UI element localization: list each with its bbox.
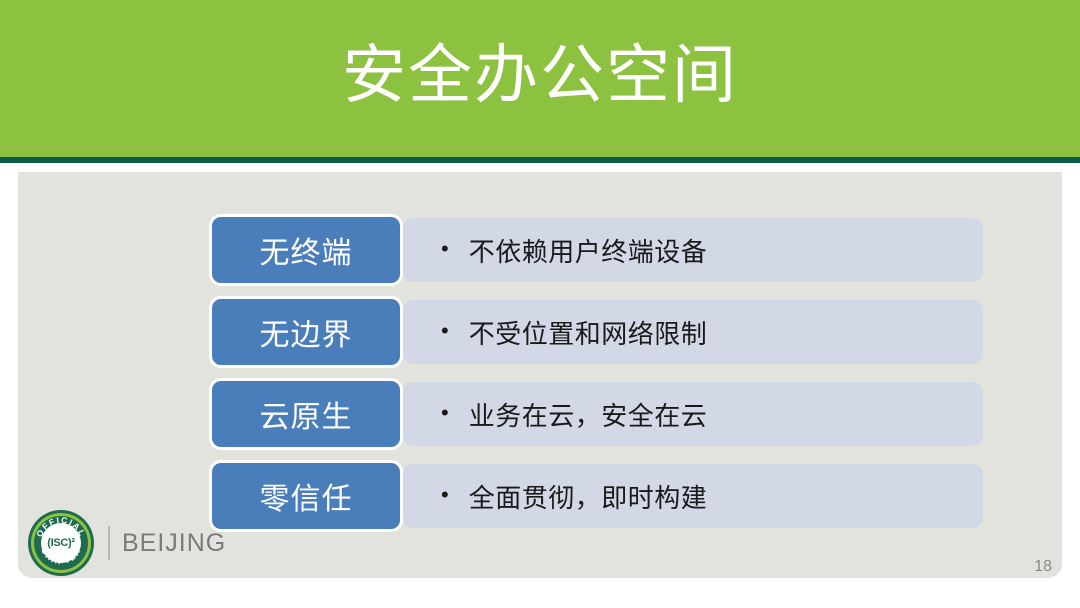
feature-description-3: 业务在云，安全在云 xyxy=(469,396,708,433)
isc2-chapter-logo: (ISC)² OFFICIAL CHAPTER BEIJING xyxy=(28,510,226,576)
bullet-icon: • xyxy=(441,238,449,260)
bullet-icon: • xyxy=(441,484,449,506)
slide-canvas: 安全办公空间 无终端 • 不依赖用户终端设备 无边界 • 不受位置和网络限制 云… xyxy=(0,0,1080,608)
list-item: 零信任 • 全面贯彻，即时构建 xyxy=(209,460,983,532)
feature-description-1: 不依赖用户终端设备 xyxy=(469,232,708,269)
bullet-icon: • xyxy=(441,402,449,424)
feature-body-panel-3: • 业务在云，安全在云 xyxy=(403,382,983,446)
feature-body-panel-1: • 不依赖用户终端设备 xyxy=(403,218,983,282)
list-item: 无终端 • 不依赖用户终端设备 xyxy=(209,214,983,286)
isc2-wordmark: (ISC)² xyxy=(41,523,81,563)
list-item: 云原生 • 业务在云，安全在云 xyxy=(209,378,983,450)
feature-label-badge-1: 无终端 xyxy=(209,214,403,286)
title-divider-rule xyxy=(0,157,1080,163)
list-item: 无边界 • 不受位置和网络限制 xyxy=(209,296,983,368)
feature-rows-list: 无终端 • 不依赖用户终端设备 无边界 • 不受位置和网络限制 云原生 • 业务… xyxy=(209,214,983,532)
feature-label-badge-3: 云原生 xyxy=(209,378,403,450)
feature-label-badge-2: 无边界 xyxy=(209,296,403,368)
feature-body-panel-4: • 全面贯彻，即时构建 xyxy=(403,464,983,528)
feature-body-panel-2: • 不受位置和网络限制 xyxy=(403,300,983,364)
feature-description-4: 全面贯彻，即时构建 xyxy=(469,478,708,515)
chapter-name-label: BEIJING xyxy=(122,529,226,558)
bullet-icon: • xyxy=(441,320,449,342)
logo-divider xyxy=(108,526,110,560)
feature-label-badge-4: 零信任 xyxy=(209,460,403,532)
title-banner: 安全办公空间 xyxy=(0,0,1080,157)
isc2-seal-icon: (ISC)² OFFICIAL CHAPTER xyxy=(28,510,94,576)
feature-description-2: 不受位置和网络限制 xyxy=(469,314,708,351)
page-title: 安全办公空间 xyxy=(0,0,1080,157)
page-number: 18 xyxy=(1012,558,1052,576)
